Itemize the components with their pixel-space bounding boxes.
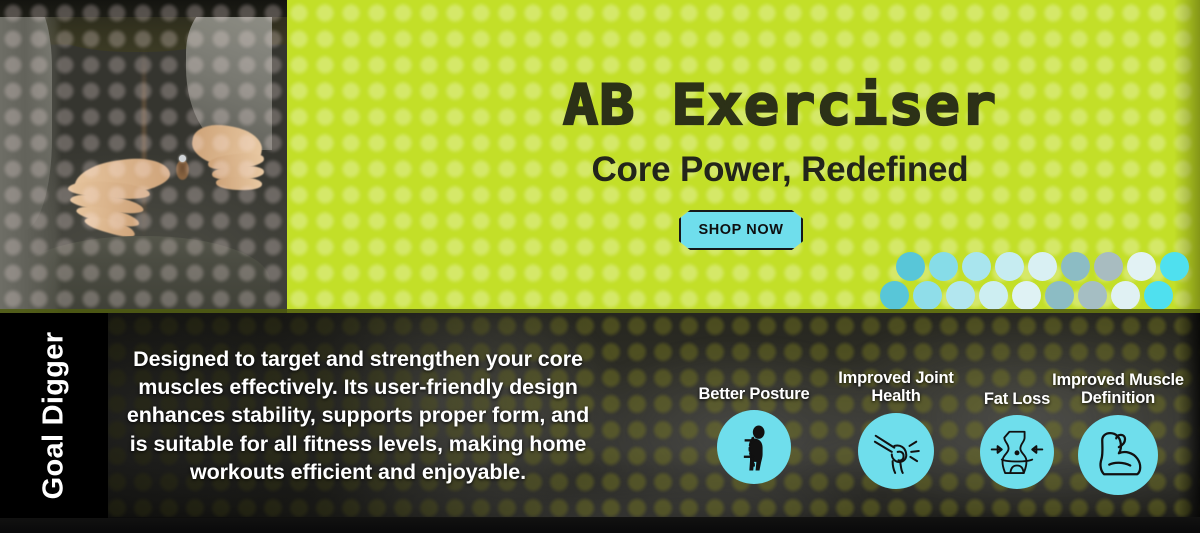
ab-exerciser-promo-banner: AB Exerciser Core Power, Redefined SHOP … — [0, 0, 1200, 533]
decor-circle — [1094, 252, 1123, 281]
shop-now-button[interactable]: SHOP NOW — [679, 210, 803, 250]
decor-circle — [1127, 252, 1156, 281]
decor-circle — [880, 281, 909, 310]
decor-circle — [995, 252, 1024, 281]
bottom-footer-bar — [0, 517, 1200, 533]
decor-circle — [913, 281, 942, 310]
brand-name: Goal Digger — [38, 332, 71, 500]
feature-label: Improved Muscle Definition — [1032, 371, 1200, 408]
decor-circle — [1028, 252, 1057, 281]
decor-circle — [1045, 281, 1074, 310]
feature-item-improved-joint-health: Improved Joint Health — [812, 369, 980, 489]
decor-circle — [896, 252, 925, 281]
brand-panel: Goal Digger — [0, 313, 108, 518]
feature-label: Improved Joint Health — [812, 369, 980, 406]
decorative-circle-cluster — [886, 252, 1186, 310]
decor-circle — [1160, 252, 1189, 281]
description-text: Designed to target and strengthen your c… — [126, 345, 590, 487]
decor-circle — [1078, 281, 1107, 310]
photo-dot-overlay — [0, 0, 287, 313]
decor-circle — [1111, 281, 1140, 310]
feature-item-improved-muscle-definition: Improved Muscle Definition — [1032, 371, 1200, 495]
feature-item-better-posture: Better Posture — [674, 385, 834, 484]
decor-circle — [1061, 252, 1090, 281]
decor-circle — [1144, 281, 1173, 310]
description-panel: Designed to target and strengthen your c… — [108, 313, 608, 518]
decor-circle — [962, 252, 991, 281]
knee-joint-icon — [858, 413, 934, 489]
shop-now-label: SHOP NOW — [698, 222, 783, 238]
page-title: AB Exerciser — [483, 78, 1077, 133]
decor-circle — [929, 252, 958, 281]
feature-label: Better Posture — [674, 385, 834, 403]
posture-silhouette-icon — [717, 410, 791, 484]
flexed-bicep-icon — [1078, 415, 1158, 495]
decor-circle — [946, 281, 975, 310]
hero-section: AB Exerciser Core Power, Redefined SHOP … — [0, 0, 1200, 313]
fitness-model-photo — [0, 0, 287, 313]
decor-circle — [1012, 281, 1041, 310]
decor-circle — [979, 281, 1008, 310]
hero-subtitle: Core Power, Redefined — [500, 150, 1060, 190]
feature-list: Better Posture Improved Joint Health — [660, 313, 1200, 518]
